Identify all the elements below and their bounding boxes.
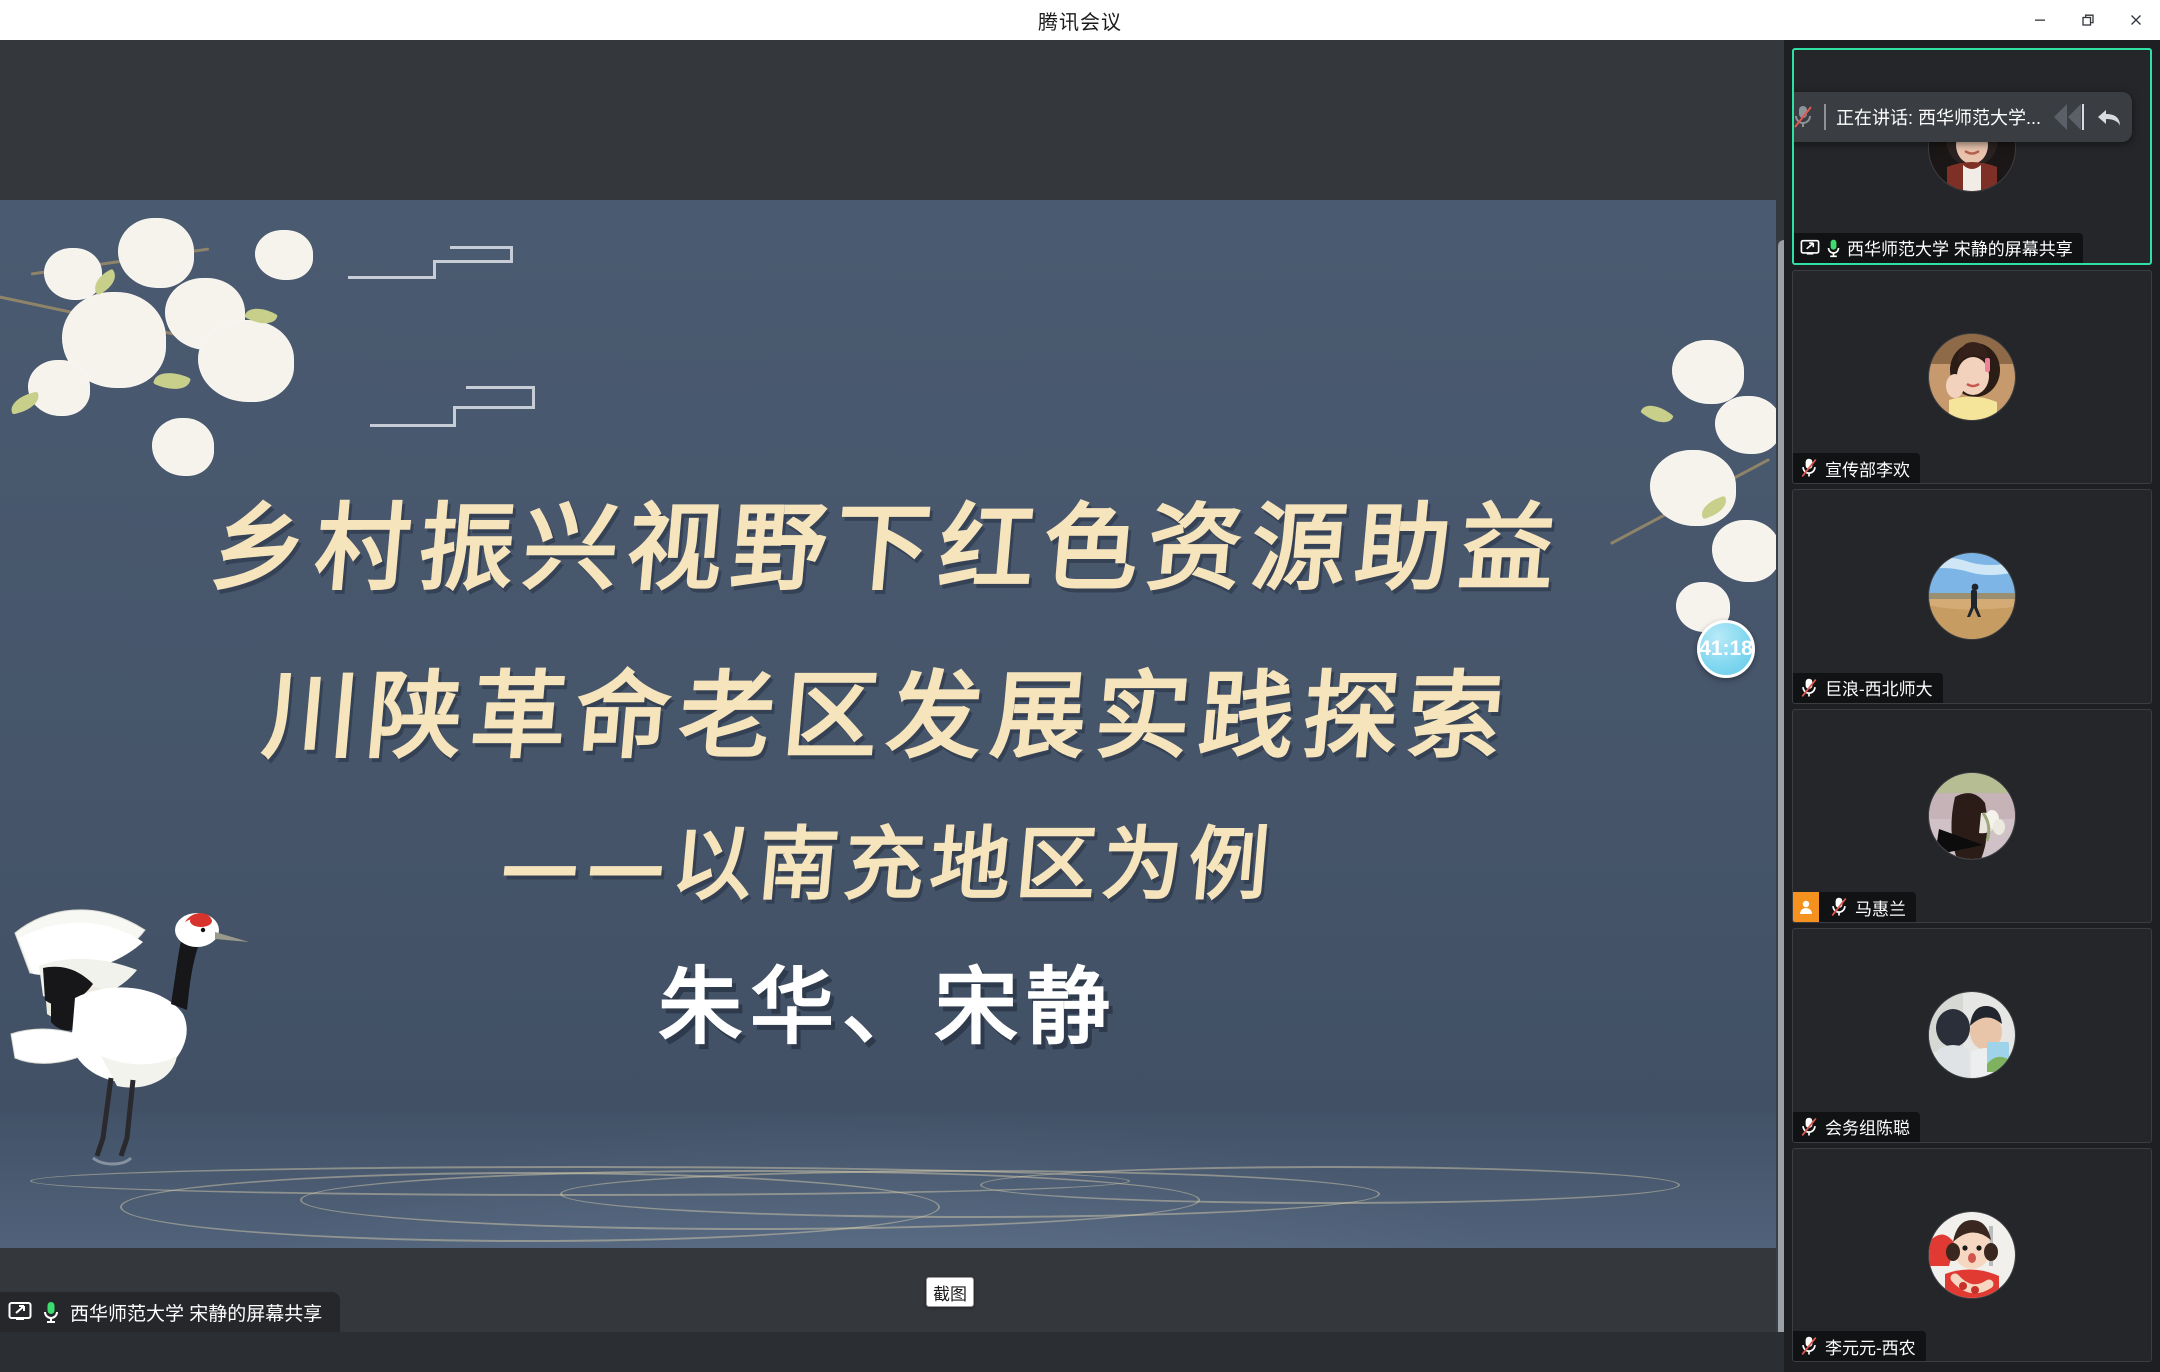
restore-button[interactable]	[2064, 0, 2112, 40]
participant-name: 巨浪-西北师大	[1825, 675, 1933, 700]
speaking-banner-text: 正在讲话: 西华师范大学...	[1836, 104, 2044, 130]
host-badge-icon	[1793, 892, 1819, 922]
participant-rail[interactable]: 正在讲话: 西华师范大学...	[1784, 40, 2160, 1372]
avatar	[1929, 773, 2015, 859]
microphone-muted-icon	[1799, 677, 1819, 699]
participant-namebar: 巨浪-西北师大	[1793, 673, 1943, 703]
participant-namebar: 马惠兰	[1793, 892, 1916, 922]
screen-share-icon	[8, 1301, 32, 1323]
window-controls	[2016, 0, 2160, 40]
microphone-muted-icon	[1799, 457, 1819, 479]
water-surface	[0, 1113, 1776, 1248]
participant-name: 马惠兰	[1855, 895, 1906, 920]
microphone-icon	[42, 1300, 60, 1324]
participant-tile[interactable]: 马惠兰	[1792, 709, 2152, 924]
participant-name: 会务组陈聪	[1825, 1114, 1910, 1139]
meeting-timer-badge[interactable]: 41:18	[1697, 620, 1755, 678]
microphone-muted-icon	[1799, 1335, 1819, 1357]
banner-divider	[1824, 104, 1826, 130]
participant-tile[interactable]: 会务组陈聪	[1792, 928, 2152, 1143]
slide-headline-line2: 川陕革命老区发展实践探索	[0, 640, 1776, 777]
participant-name: 李元元-西农	[1825, 1334, 1916, 1359]
avatar	[1929, 992, 2015, 1078]
stage-scrollbar[interactable]	[1776, 240, 1784, 1332]
slide-authors: 朱华、宋静	[0, 940, 1776, 1061]
participant-tile-active[interactable]: 正在讲话: 西华师范大学...	[1792, 48, 2152, 265]
share-status-bar: 西华师范大学 宋静的屏幕共享	[0, 1292, 340, 1332]
avatar	[1929, 334, 2015, 420]
participant-name: 宣传部李欢	[1825, 456, 1910, 481]
share-status-text: 西华师范大学 宋静的屏幕共享	[70, 1299, 322, 1326]
microphone-muted-icon	[1799, 1116, 1819, 1138]
close-button[interactable]	[2112, 0, 2160, 40]
microphone-muted-icon	[1829, 896, 1849, 918]
participant-tile[interactable]: 宣传部李欢	[1792, 270, 2152, 485]
participant-tile[interactable]: 巨浪-西北师大	[1792, 489, 2152, 704]
window-titlebar: 腾讯会议	[0, 0, 2160, 40]
screen-share-icon	[1800, 239, 1820, 257]
avatar	[1929, 553, 2015, 639]
minimize-button[interactable]	[2016, 0, 2064, 40]
participant-name: 西华师范大学 宋静的屏幕共享	[1847, 235, 2073, 260]
participant-namebar: 会务组陈聪	[1793, 1112, 1920, 1142]
slide-headline-line1: 乡村振兴视野下红色资源助益	[0, 472, 1776, 609]
cloud-motif-lower	[370, 380, 550, 436]
participant-namebar: 西华师范大学 宋静的屏幕共享	[1794, 233, 2083, 263]
participant-namebar: 李元元-西农	[1793, 1331, 1926, 1361]
speaking-banner[interactable]: 正在讲话: 西华师范大学...	[1792, 92, 2132, 142]
undo-arrow-icon[interactable]	[2094, 104, 2124, 130]
avatar	[1929, 1212, 2015, 1298]
capture-screenshot-button[interactable]: 截图	[926, 1277, 974, 1307]
collapse-chevron-icon[interactable]	[2054, 104, 2084, 130]
participant-namebar: 宣传部李欢	[1793, 453, 1920, 483]
microphone-muted-icon	[1792, 104, 1814, 130]
shared-screen-stage[interactable]: 乡村振兴视野下红色资源助益 川陕革命老区发展实践探索 ——以南充地区为例 朱华、…	[0, 40, 1784, 1332]
participant-tile[interactable]: 李元元-西农	[1792, 1148, 2152, 1363]
microphone-icon	[1826, 238, 1841, 258]
app-title: 腾讯会议	[1038, 6, 1122, 35]
red-crowned-crane-illustration	[5, 838, 265, 1168]
slide-subtitle: ——以南充地区为例	[0, 800, 1776, 916]
presentation-slide: 乡村振兴视野下红色资源助益 川陕革命老区发展实践探索 ——以南充地区为例 朱华、…	[0, 200, 1776, 1248]
cloud-motif-upper	[348, 242, 528, 288]
